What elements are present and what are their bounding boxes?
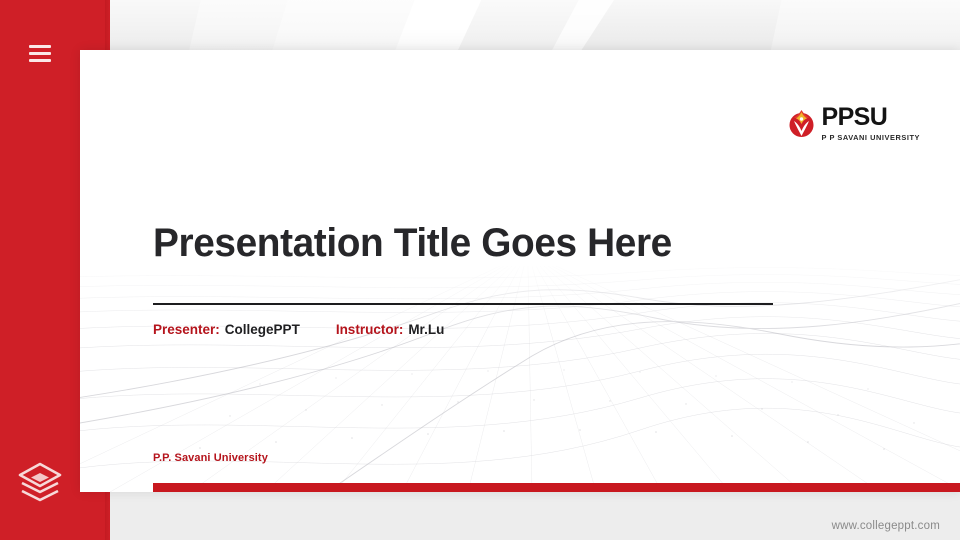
- hamburger-menu-icon[interactable]: [29, 45, 51, 62]
- slide-meta-row: Presenter: CollegePPT Instructor: Mr.Lu: [153, 322, 444, 337]
- slide-title: Presentation Title Goes Here: [153, 222, 832, 264]
- title-divider-rule: [153, 303, 773, 305]
- layers-stack-icon[interactable]: [16, 458, 64, 506]
- ppsu-logo: PPSU P P SAVANI UNIVERSITY: [788, 105, 920, 141]
- logo-subtitle: P P SAVANI UNIVERSITY: [822, 134, 920, 141]
- ppsu-shield-emblem-icon: [788, 109, 815, 138]
- band-sheen-overlay: [0, 0, 960, 52]
- presentation-slide: PPSU P P SAVANI UNIVERSITY Presentation …: [80, 50, 960, 492]
- hamburger-line-3: [29, 59, 51, 62]
- presenter-label: Presenter:: [153, 322, 220, 337]
- slide-accent-bar: [153, 483, 960, 492]
- presenter-value: CollegePPT: [225, 322, 300, 337]
- instructor-label: Instructor:: [336, 322, 404, 337]
- app-root: PPSU P P SAVANI UNIVERSITY Presentation …: [0, 0, 960, 540]
- site-url-label: www.collegeppt.com: [832, 520, 940, 532]
- instructor-value: Mr.Lu: [408, 322, 444, 337]
- top-decorative-band: [0, 0, 960, 52]
- hamburger-line-1: [29, 45, 51, 48]
- hamburger-line-2: [29, 52, 51, 55]
- slide-footer-text: P.P. Savani University: [153, 452, 268, 464]
- logo-wordmark: PPSU: [822, 105, 920, 130]
